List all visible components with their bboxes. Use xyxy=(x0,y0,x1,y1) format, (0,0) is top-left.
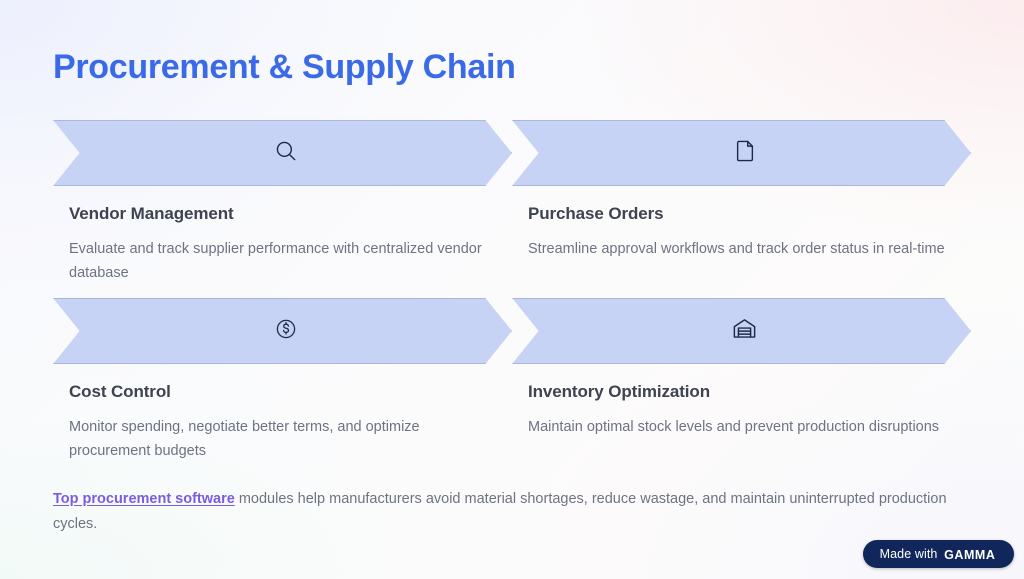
card-description: Maintain optimal stock levels and preven… xyxy=(528,415,955,439)
document-icon xyxy=(732,138,758,169)
card-description: Streamline approval workflows and track … xyxy=(528,237,955,261)
card-text: Vendor Management Evaluate and track sup… xyxy=(53,203,512,285)
badge-brand-label: GAMMA xyxy=(945,547,996,562)
slide-root: Procurement & Supply Chain Vendor xyxy=(0,0,1024,579)
chevron-banner xyxy=(53,298,512,364)
page-title: Procurement & Supply Chain xyxy=(53,44,516,90)
feature-row-2: Cost Control Monitor spending, negotiate… xyxy=(53,298,971,463)
dollar-coin-icon xyxy=(274,317,298,346)
badge-made-with-label: Made with xyxy=(880,547,938,561)
card-text: Inventory Optimization Maintain optimal … xyxy=(512,381,971,439)
feature-card-inventory-optimization[interactable]: Inventory Optimization Maintain optimal … xyxy=(512,298,971,463)
chevron-banner xyxy=(512,120,971,186)
warehouse-icon xyxy=(731,315,758,347)
top-procurement-software-link[interactable]: Top procurement software xyxy=(53,491,235,507)
made-with-gamma-badge[interactable]: Made with GAMMA xyxy=(863,540,1014,568)
footer-paragraph: Top procurement software modules help ma… xyxy=(53,487,953,537)
feature-row-1: Vendor Management Evaluate and track sup… xyxy=(53,120,971,285)
magnifier-icon xyxy=(273,138,299,169)
card-description: Evaluate and track supplier performance … xyxy=(69,237,496,285)
feature-card-vendor-management[interactable]: Vendor Management Evaluate and track sup… xyxy=(53,120,512,285)
card-title: Inventory Optimization xyxy=(528,381,955,403)
chevron-banner xyxy=(53,120,512,186)
card-title: Cost Control xyxy=(69,381,496,403)
card-text: Purchase Orders Streamline approval work… xyxy=(512,203,971,261)
feature-card-cost-control[interactable]: Cost Control Monitor spending, negotiate… xyxy=(53,298,512,463)
feature-card-purchase-orders[interactable]: Purchase Orders Streamline approval work… xyxy=(512,120,971,285)
card-description: Monitor spending, negotiate better terms… xyxy=(69,415,496,463)
card-title: Purchase Orders xyxy=(528,203,955,225)
feature-grid: Vendor Management Evaluate and track sup… xyxy=(53,120,971,463)
card-title: Vendor Management xyxy=(69,203,496,225)
card-text: Cost Control Monitor spending, negotiate… xyxy=(53,381,512,463)
chevron-banner xyxy=(512,298,971,364)
